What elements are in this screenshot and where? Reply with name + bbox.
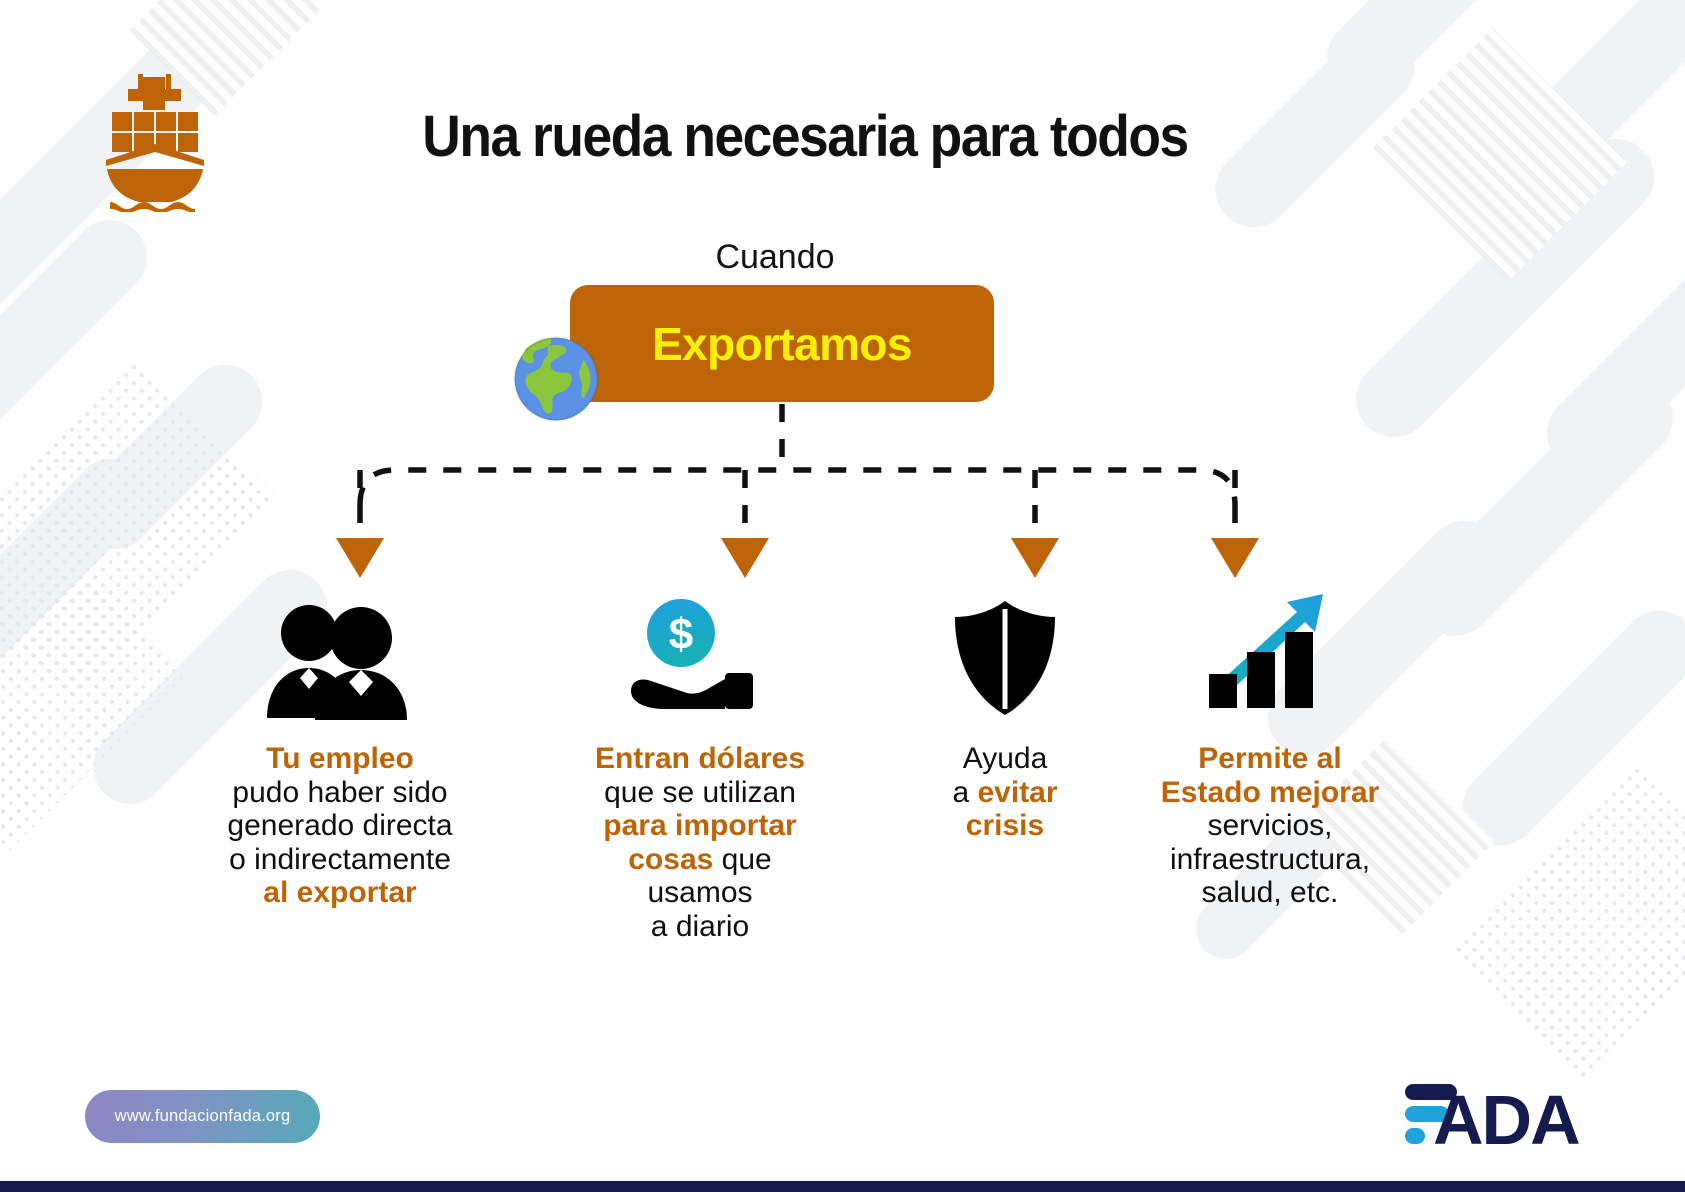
col4-text: Permite al Estado mejorar servicios, inf… — [1105, 742, 1435, 910]
infographic-canvas: Una rueda necesaria para todos Cuando Ex… — [0, 0, 1685, 1192]
svg-text:$: $ — [669, 610, 693, 659]
col2-icon-wrap: $ — [540, 590, 860, 720]
fada-logo: ADA — [1405, 1082, 1619, 1152]
col2-line-4: usamos — [540, 876, 860, 910]
col4-line-4: salud, etc. — [1105, 876, 1435, 910]
col1-line-1: pudo haber sido — [170, 776, 510, 810]
hand-with-dollar-coin-icon: $ — [625, 595, 775, 720]
growth-bar-chart-icon — [1203, 590, 1338, 720]
col3-text: Ayuda a evitar crisis — [880, 742, 1130, 843]
col1-line-2: generado directa — [170, 809, 510, 843]
exportamos-label: Exportamos — [652, 317, 912, 371]
website-url-label: www.fundacionfada.org — [115, 1107, 291, 1126]
col3-line-2: crisis — [966, 809, 1044, 842]
website-url-pill[interactable]: www.fundacionfada.org — [85, 1090, 320, 1143]
col2-line-3-plain: que — [722, 843, 772, 876]
col2-text: Entran dólares que se utilizan para impo… — [540, 742, 860, 944]
col2-line-1: que se utilizan — [540, 776, 860, 810]
bottom-rule — [0, 1181, 1685, 1192]
exportamos-node: Exportamos — [570, 285, 994, 402]
benefit-column-dollars: $ Entran dólares que se utilizan para im… — [540, 590, 860, 944]
col4-icon-wrap — [1105, 590, 1435, 720]
col1-line-0: Tu empleo — [266, 742, 414, 775]
col4-line-3: infraestructura, — [1105, 843, 1435, 877]
col1-line-3: o indirectamente — [170, 843, 510, 877]
col1-line-4: al exportar — [263, 876, 416, 909]
globe-icon — [512, 335, 600, 423]
cargo-ship-icon — [88, 62, 238, 212]
benefit-column-employment: Tu empleo pudo haber sido generado direc… — [170, 590, 510, 910]
col2-line-3-bold: cosas — [628, 843, 713, 876]
col2-line-2: para importar — [603, 809, 796, 842]
col1-icon-wrap — [170, 590, 510, 720]
col2-line-5: a diario — [540, 910, 860, 944]
col4-line-1: Estado mejorar — [1161, 776, 1379, 809]
svg-text:ADA: ADA — [1433, 1082, 1579, 1152]
col3-line-1-bold: evitar — [977, 776, 1057, 809]
benefit-column-crisis: Ayuda a evitar crisis — [880, 590, 1130, 843]
col2-line-0: Entran dólares — [595, 742, 805, 775]
col4-line-0: Permite al — [1198, 742, 1341, 775]
col1-text: Tu empleo pudo haber sido generado direc… — [170, 742, 510, 910]
col3-line-0: Ayuda — [880, 742, 1130, 776]
col4-line-2: servicios, — [1105, 809, 1435, 843]
two-people-icon — [249, 600, 431, 720]
col3-line-1-plain: a — [952, 776, 969, 809]
cuando-label: Cuando — [640, 238, 910, 277]
col3-icon-wrap — [880, 590, 1130, 720]
page-title: Una rueda necesaria para todos — [340, 103, 1269, 170]
benefit-column-state: Permite al Estado mejorar servicios, inf… — [1105, 590, 1435, 910]
shield-icon — [945, 595, 1065, 720]
